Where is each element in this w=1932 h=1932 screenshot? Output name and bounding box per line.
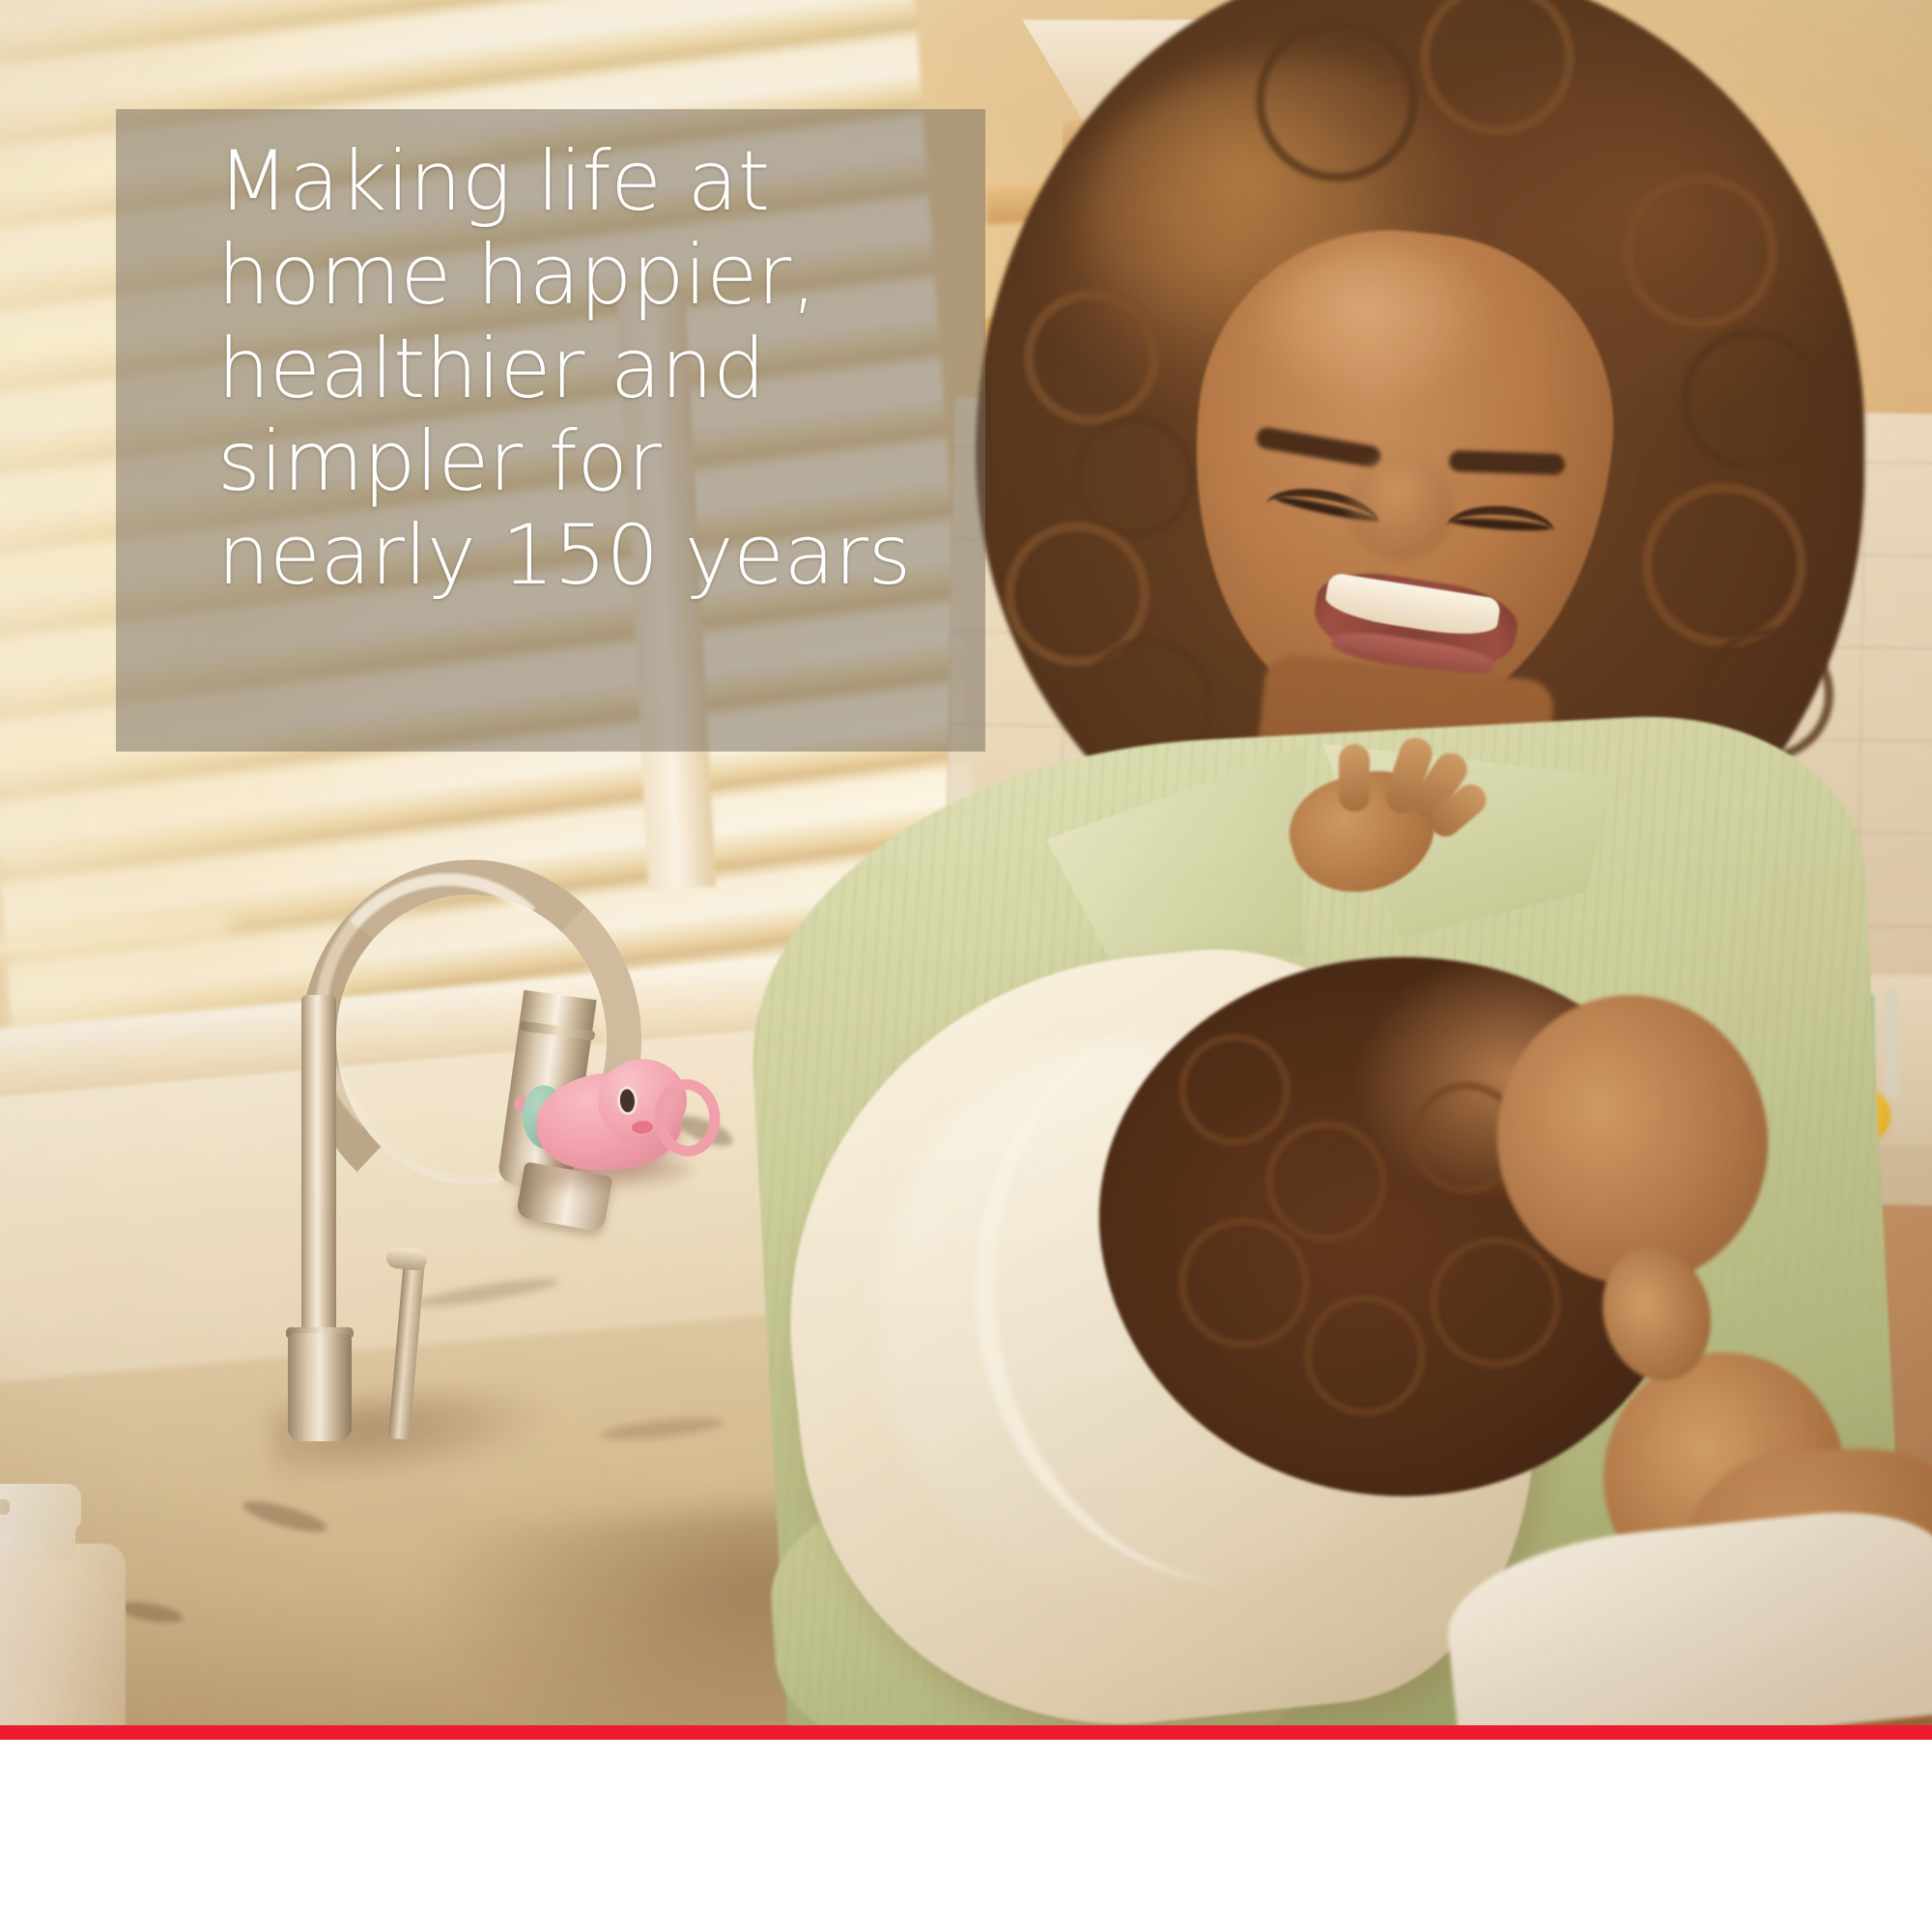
hair-curl (1072, 415, 1196, 539)
hair-curl (1256, 19, 1418, 182)
faucet-handle-top[interactable] (385, 1246, 428, 1271)
hair-curl (1681, 328, 1824, 471)
baby-thumb (1339, 744, 1370, 811)
soap-pump (0, 1484, 81, 1532)
ad-creative: Making life at home happier, healthier a… (0, 0, 1932, 1932)
soap-bottle (0, 1544, 126, 1725)
headline-line-4: simpler for (217, 415, 980, 509)
brand-accent-bar (0, 1725, 1932, 1740)
eyebrow-right (1449, 450, 1566, 475)
hair-curl (1623, 174, 1777, 328)
headline-line-3: healthier and (217, 323, 980, 416)
headline-text: Making life at home happier, healthier a… (217, 135, 980, 603)
hair-curl (1024, 290, 1159, 425)
headline-line-5: nearly 150 years (217, 509, 980, 603)
pink-elephant-toy (502, 1041, 709, 1190)
faucet-base (288, 1333, 352, 1441)
forehead-highlight (1256, 241, 1497, 406)
headline-line-1: Making life at (217, 135, 980, 229)
headline-line-2: home happier, (217, 229, 980, 323)
soap-spout (0, 1499, 10, 1515)
soap-dispenser (0, 1478, 155, 1725)
baby-figure (831, 927, 1932, 1725)
hair-curl (1642, 483, 1806, 647)
footer-bar: American Standard (0, 1740, 1932, 1932)
